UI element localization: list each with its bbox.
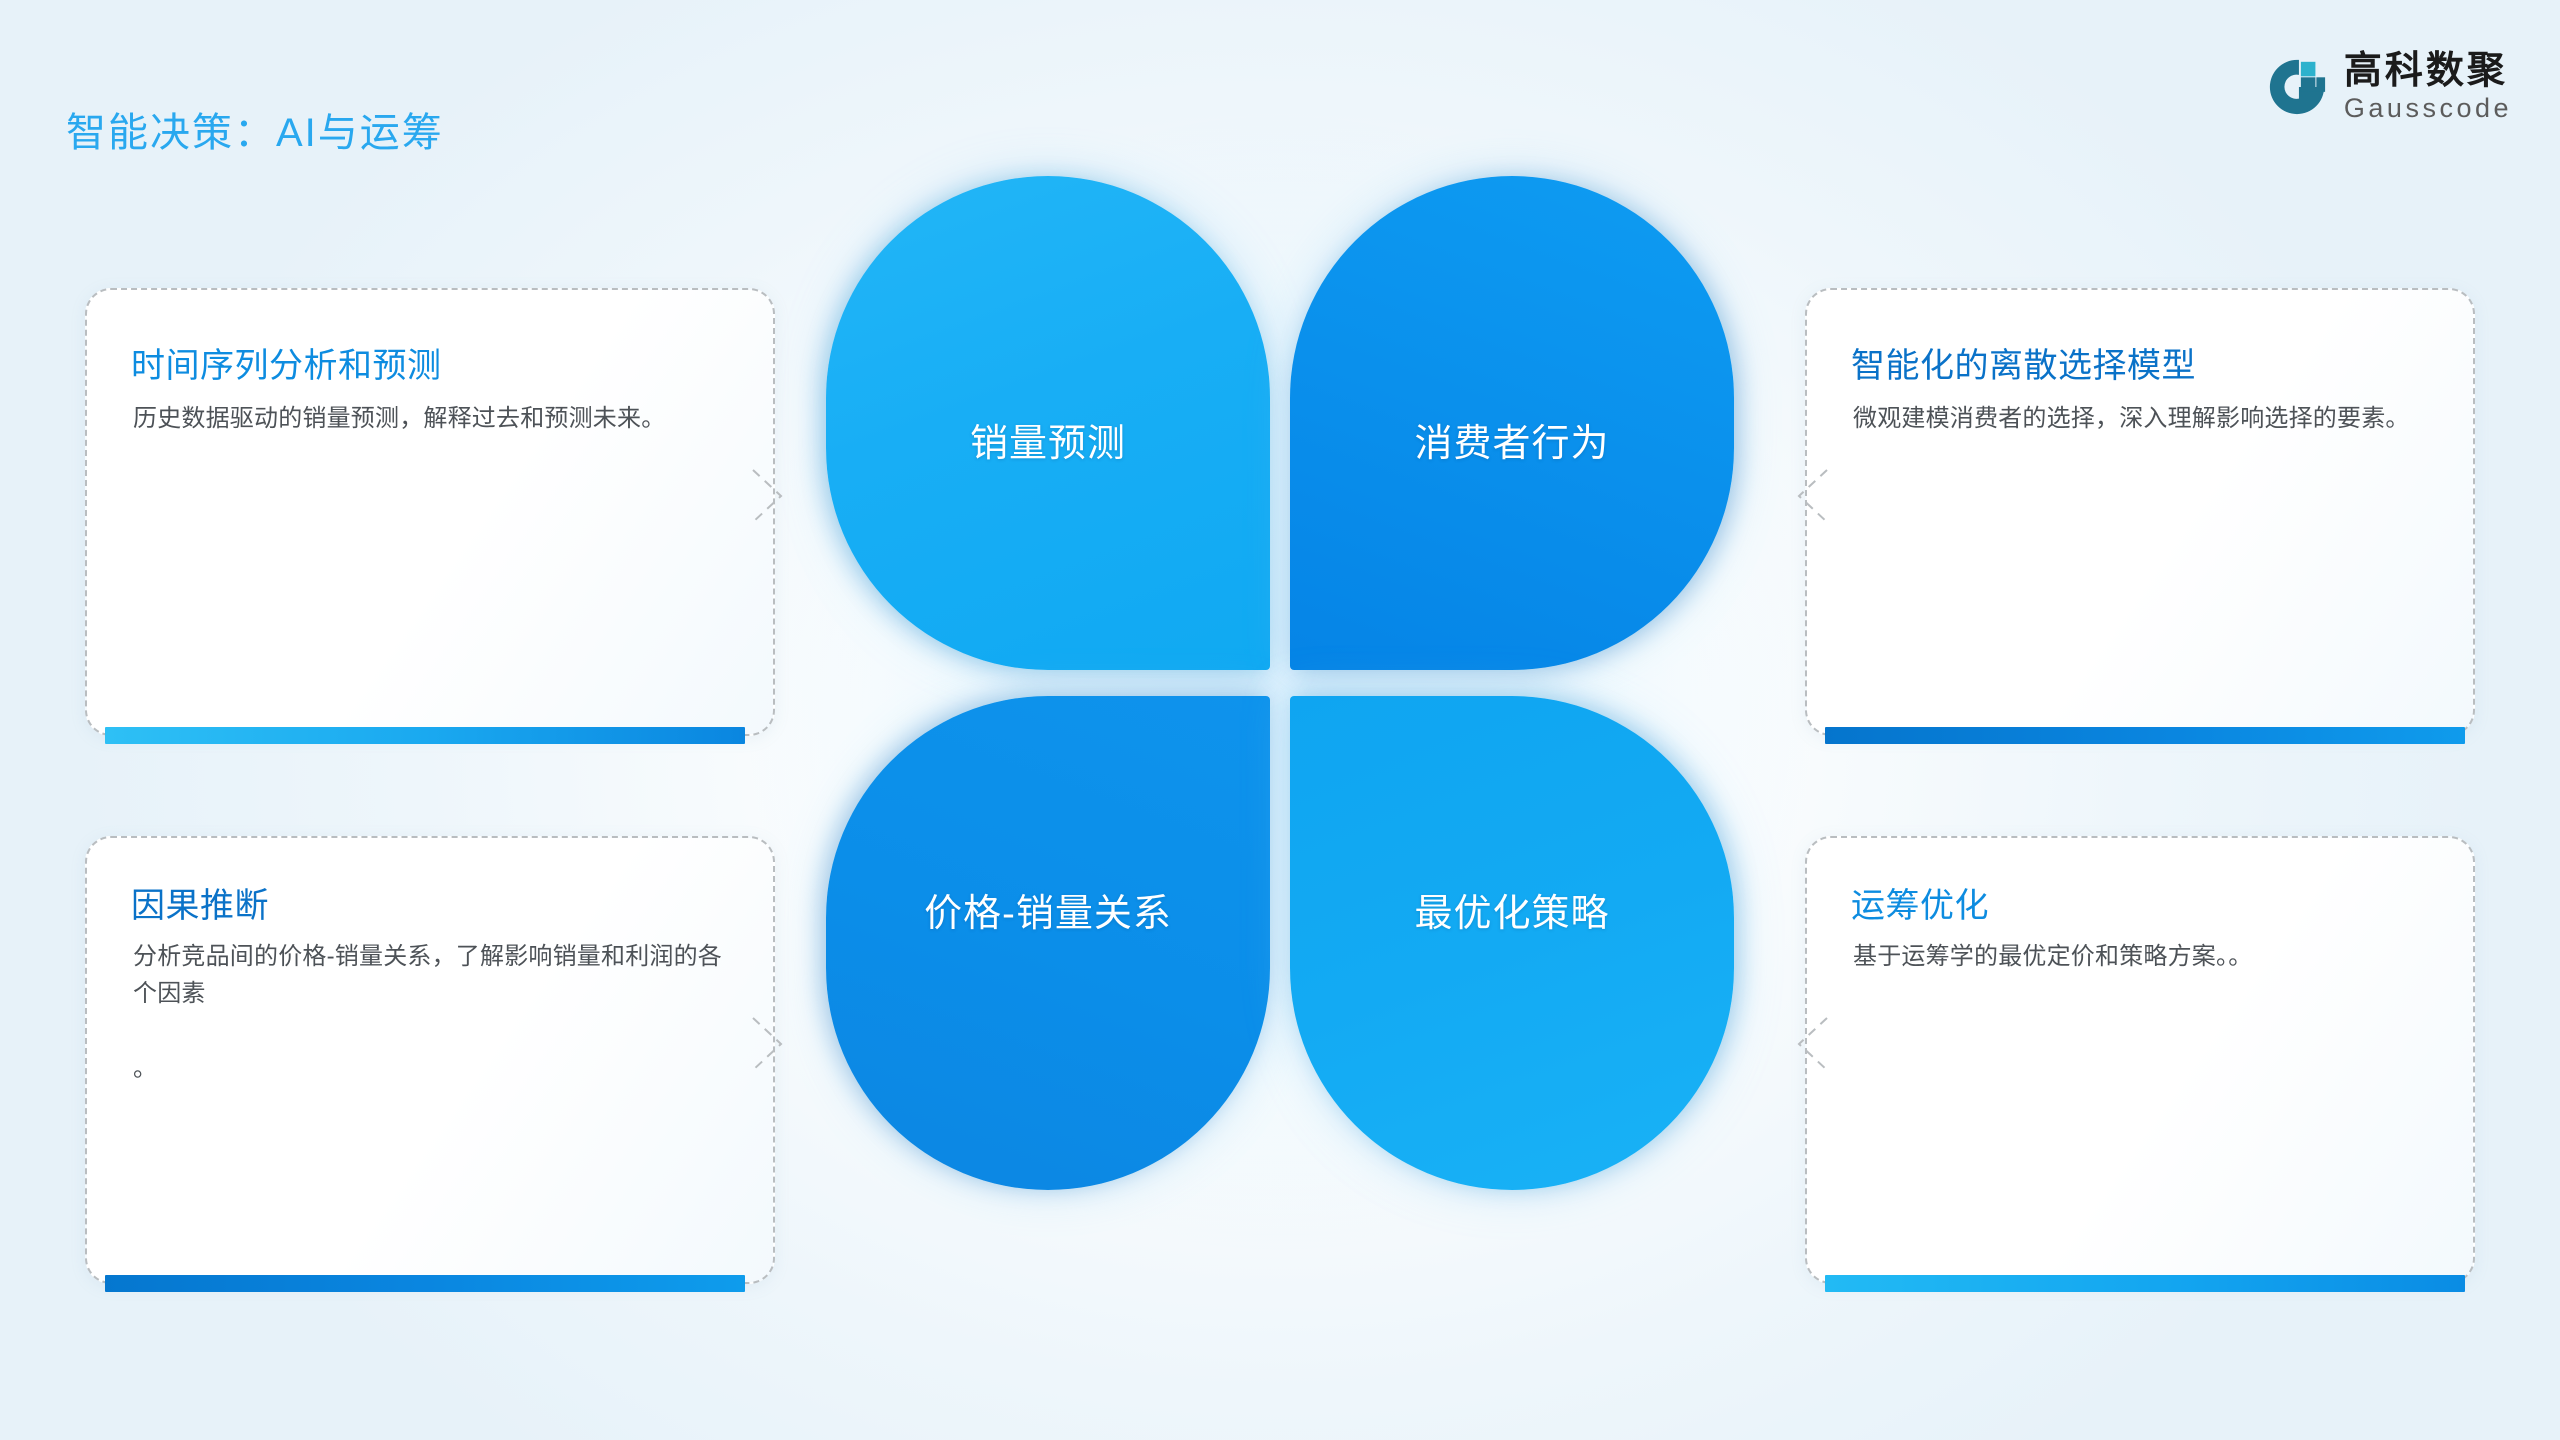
petal-optimization-strategy[interactable]: 最优化策略 bbox=[1290, 696, 1734, 1190]
chevron-right-icon bbox=[751, 1016, 797, 1072]
chevron-left-icon bbox=[1783, 1016, 1829, 1072]
card-causal-inference[interactable]: 因果推断 分析竞品间的价格-销量关系，了解影响销量和利润的各个因素 。 bbox=[85, 836, 775, 1284]
card-title: 因果推断 bbox=[131, 878, 269, 927]
card-description: 历史数据驱动的销量预测，解释过去和预测未来。 bbox=[133, 400, 743, 437]
gausscode-logo-icon bbox=[2266, 56, 2328, 118]
logo-text-en: Gausscode bbox=[2344, 95, 2512, 122]
petal-label: 消费者行为 bbox=[1290, 412, 1734, 467]
petal-consumer-behavior[interactable]: 消费者行为 bbox=[1290, 176, 1734, 670]
card-accent-bar bbox=[105, 1275, 745, 1292]
card-title: 运筹优化 bbox=[1851, 878, 1989, 927]
logo-text-cn: 高科数聚 bbox=[2344, 52, 2512, 90]
card-description: 基于运筹学的最优定价和策略方案。。 bbox=[1853, 938, 2463, 975]
card-accent-bar bbox=[105, 727, 745, 744]
petal-label: 价格-销量关系 bbox=[826, 882, 1270, 937]
card-description: 微观建模消费者的选择，深入理解影响选择的要素。 bbox=[1853, 400, 2453, 437]
petal-price-sales-relation[interactable]: 价格-销量关系 bbox=[826, 696, 1270, 1190]
card-discrete-choice-model[interactable]: 智能化的离散选择模型 微观建模消费者的选择，深入理解影响选择的要素。 bbox=[1805, 288, 2475, 736]
card-accent-bar bbox=[1825, 1275, 2465, 1292]
petal-label: 销量预测 bbox=[826, 412, 1270, 467]
page-title: 智能决策：AI与运筹 bbox=[66, 100, 444, 158]
petal-sales-forecast[interactable]: 销量预测 bbox=[826, 176, 1270, 670]
card-description: 分析竞品间的价格-销量关系，了解影响销量和利润的各个因素 。 bbox=[133, 938, 733, 1087]
brand-logo: 高科数聚 Gausscode bbox=[2266, 52, 2512, 122]
card-title: 时间序列分析和预测 bbox=[131, 338, 442, 387]
card-accent-bar bbox=[1825, 727, 2465, 744]
card-operations-optimization[interactable]: 运筹优化 基于运筹学的最优定价和策略方案。。 bbox=[1805, 836, 2475, 1284]
petal-label: 最优化策略 bbox=[1290, 882, 1734, 937]
card-time-series-analysis[interactable]: 时间序列分析和预测 历史数据驱动的销量预测，解释过去和预测未来。 bbox=[85, 288, 775, 736]
four-petal-diagram: 销量预测 消费者行为 价格-销量关系 最优化策略 bbox=[826, 176, 1734, 1190]
chevron-left-icon bbox=[1783, 468, 1829, 524]
chevron-right-icon bbox=[751, 468, 797, 524]
card-title: 智能化的离散选择模型 bbox=[1851, 338, 2196, 387]
